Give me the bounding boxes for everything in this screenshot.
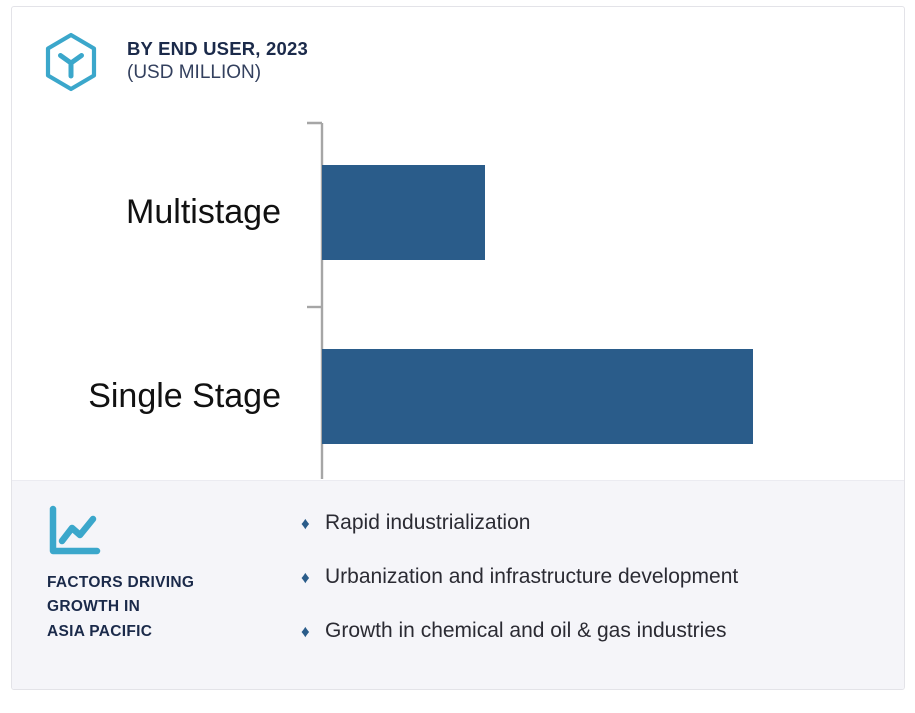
list-item-label: Urbanization and infrastructure developm…	[325, 565, 738, 589]
hexagon-y-icon	[40, 31, 102, 93]
bar-label-single-stage: Single Stage	[11, 377, 281, 416]
infographic-card: BY END USER, 2023 (USD MILLION) Multista…	[11, 6, 905, 690]
bar-chart: Multistage Single Stage	[12, 107, 905, 479]
list-item: ♦ Growth in chemical and oil & gas indus…	[301, 619, 881, 673]
line-chart-trend-icon	[47, 505, 282, 557]
page-title: BY END USER, 2023	[127, 38, 308, 59]
panel-heading-line-3: ASIA PACIFIC	[47, 620, 282, 644]
panel-heading: FACTORS DRIVING GROWTH IN ASIA PACIFIC	[47, 571, 282, 644]
bar-label-multistage: Multistage	[11, 193, 281, 232]
panel-left-column: FACTORS DRIVING GROWTH IN ASIA PACIFIC	[47, 505, 282, 644]
page-subtitle: (USD MILLION)	[127, 61, 308, 85]
diamond-bullet-icon: ♦	[301, 569, 325, 586]
list-item-label: Growth in chemical and oil & gas industr…	[325, 619, 727, 643]
list-item: ♦ Rapid industrialization	[301, 511, 881, 565]
chart-plot-area	[12, 107, 905, 479]
growth-factors-panel: FACTORS DRIVING GROWTH IN ASIA PACIFIC ♦…	[12, 480, 905, 690]
panel-heading-line-2: GROWTH IN	[47, 595, 282, 619]
diamond-bullet-icon: ♦	[301, 623, 325, 640]
growth-factors-list: ♦ Rapid industrialization ♦ Urbanization…	[301, 511, 881, 673]
header-text-block: BY END USER, 2023 (USD MILLION)	[127, 28, 308, 85]
card-header: BY END USER, 2023 (USD MILLION)	[40, 28, 308, 93]
category-axis	[307, 123, 322, 479]
bar-multistage	[322, 165, 485, 260]
list-item-label: Rapid industrialization	[325, 511, 530, 535]
bar-single-stage	[322, 349, 753, 444]
panel-heading-line-1: FACTORS DRIVING	[47, 571, 282, 595]
list-item: ♦ Urbanization and infrastructure develo…	[301, 565, 881, 619]
diamond-bullet-icon: ♦	[301, 515, 325, 532]
